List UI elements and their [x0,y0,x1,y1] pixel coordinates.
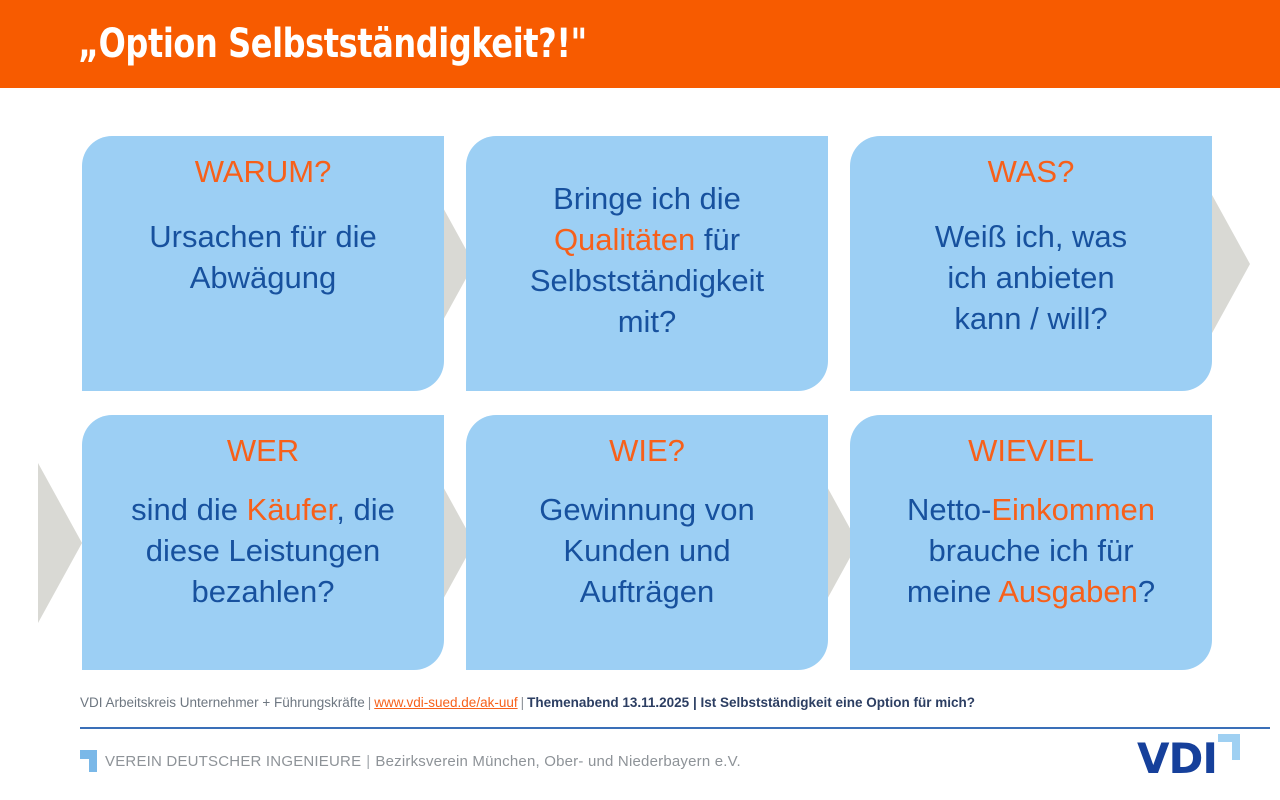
body-text: Abwägung [190,260,337,295]
highlight-text: Ausgaben [998,574,1138,609]
flow-box-line: mit? [530,301,764,342]
flow-box-heading: WAS? [988,152,1075,192]
flow-box-line: kann / will? [935,298,1127,339]
flow-box-heading: WIE? [609,431,685,471]
body-text: Selbstständigkeit [530,263,764,298]
process-flow-diagram: WARUM? Ursachen für dieAbwägung Bringe i… [0,88,1280,678]
flow-box-wieviel[interactable]: WIEVIEL Netto-Einkommenbrauche ich fürme… [850,415,1212,670]
flow-box-line: bezahlen? [131,571,395,612]
body-text: , die [336,492,395,527]
body-text: mit? [618,304,677,339]
organization-chapter: Bezirksverein München, Ober- und Niederb… [375,753,740,770]
body-text: Netto- [907,492,991,527]
flow-box-heading: WARUM? [195,152,332,192]
body-text: Aufträgen [580,574,714,609]
flow-box-line: brauche ich für [907,530,1155,571]
flow-box-line: Selbstständigkeit [530,260,764,301]
body-text: brauche ich für [928,533,1133,568]
highlight-text: Käufer [247,492,337,527]
flow-box-warum[interactable]: WARUM? Ursachen für dieAbwägung [82,136,444,391]
vdi-flag-icon [1218,734,1240,760]
body-text: bezahlen? [191,574,334,609]
body-text: meine [907,574,998,609]
highlight-text: Qualitäten [554,222,695,257]
flow-row-2: WER sind die Käufer, diediese Leistungen… [0,415,1280,680]
header-bar: „Option Selbstständigkeit?!" [0,0,1280,88]
flow-box-heading: WER [227,431,299,471]
body-text: ich anbieten [947,260,1114,295]
body-text: Bringe ich die [553,181,741,216]
flow-box-line: Netto-Einkommen [907,489,1155,530]
footer-event-note: Themenabend 13.11.2025 | Ist Selbstständ… [527,695,975,710]
body-text: Kunden und [563,533,730,568]
flow-box-body: Ursachen für dieAbwägung [149,216,376,298]
footer-separator: | [361,753,375,770]
flow-box-body: Weiß ich, wasich anbietenkann / will? [935,216,1127,339]
body-text: ? [1138,574,1155,609]
flow-box-line: Kunden und [539,530,754,571]
flow-box-line: diese Leistungen [131,530,395,571]
body-text: für [695,222,740,257]
flow-box-wer[interactable]: WER sind die Käufer, diediese Leistungen… [82,415,444,670]
vdi-logo: VDI [1137,738,1240,780]
vdi-wordmark: VDI [1137,738,1217,780]
flow-box-heading: WIEVIEL [968,431,1094,471]
flow-box-was[interactable]: WAS? Weiß ich, wasich anbietenkann / wil… [850,136,1212,391]
body-text: kann / will? [954,301,1107,336]
chevron-right-icon [38,463,82,623]
flow-box-line: ich anbieten [935,257,1127,298]
body-text: Gewinnung von [539,492,754,527]
organization-text: VEREIN DEUTSCHER INGENIEURE|Bezirksverei… [105,753,741,770]
body-text: Weiß ich, was [935,219,1127,254]
flow-box-line: Bringe ich die [530,178,764,219]
footer-credit-line: VDI Arbeitskreis Unternehmer + Führungsk… [80,694,1210,712]
flow-box-line: Weiß ich, was [935,216,1127,257]
body-text: diese Leistungen [146,533,380,568]
page-title: „Option Selbstständigkeit?!" [78,21,587,67]
flow-box-body: Gewinnung vonKunden undAufträgen [539,489,754,612]
flow-box-line: Aufträgen [539,571,754,612]
flow-box-line: Gewinnung von [539,489,754,530]
footer-separator: | [518,695,528,710]
flow-box-qualitaeten[interactable]: Bringe ich dieQualitäten fürSelbstständi… [466,136,828,391]
flow-box-body: Bringe ich dieQualitäten fürSelbstständi… [530,178,764,342]
chevron-right-icon [1206,184,1250,344]
body-text: Ursachen für die [149,219,376,254]
flow-row-1: WARUM? Ursachen für dieAbwägung Bringe i… [0,136,1280,401]
footer-credit-prefix: VDI Arbeitskreis Unternehmer + Führungsk… [80,695,365,710]
highlight-text: Einkommen [991,492,1155,527]
flow-box-line: Abwägung [149,257,376,298]
flow-box-line: sind die Käufer, die [131,489,395,530]
flow-box-line: Ursachen für die [149,216,376,257]
organization-name: VEREIN DEUTSCHER INGENIEURE [105,753,361,770]
flow-box-wie[interactable]: WIE? Gewinnung vonKunden undAufträgen [466,415,828,670]
footer-separator: | [365,695,375,710]
flow-box-body: Netto-Einkommenbrauche ich fürmeine Ausg… [907,489,1155,612]
vdi-flag-icon [80,750,97,772]
flow-box-body: sind die Käufer, diediese Leistungenbeza… [131,489,395,612]
footer-website-link[interactable]: www.vdi-sued.de/ak-uuf [374,695,517,710]
flow-box-line: Qualitäten für [530,219,764,260]
organization-line: VEREIN DEUTSCHER INGENIEURE|Bezirksverei… [80,748,741,774]
flow-box-line: meine Ausgaben? [907,571,1155,612]
body-text: sind die [131,492,246,527]
footer-divider [80,727,1270,729]
